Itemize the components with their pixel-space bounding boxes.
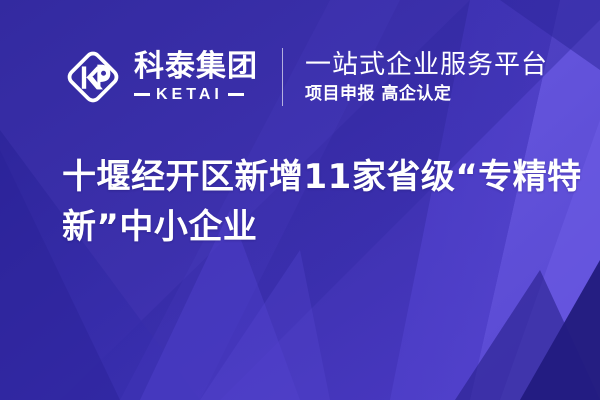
tagline-primary: 一站式企业服务平台 <box>305 51 548 80</box>
logo-rule-left <box>134 93 150 96</box>
logo-chinese-name: 科泰集团 <box>134 52 258 82</box>
logo-rule-right <box>228 93 244 96</box>
tagline-block: 一站式企业服务平台 项目申报 高企认定 <box>305 51 548 104</box>
headline: 十堰经开区新增11家省级“专精特 新”中小企业 <box>62 152 562 252</box>
tagline-secondary: 项目申报 高企认定 <box>305 85 548 104</box>
logo-latin-name: KETAI <box>156 87 223 103</box>
headline-line-2: 新”中小企业 <box>62 202 562 252</box>
ketai-logo[interactable]: 科泰集团 KETAI <box>62 46 258 108</box>
header-divider <box>282 48 283 106</box>
promo-banner: 科泰集团 KETAI 一站式企业服务平台 项目申报 高企认定 十堰经开区新增11… <box>0 0 600 400</box>
banner-header: 科泰集团 KETAI 一站式企业服务平台 项目申报 高企认定 <box>62 38 548 116</box>
ketai-diamond-kp-monogram-icon <box>62 46 124 108</box>
logo-latin-row: KETAI <box>134 87 258 103</box>
headline-line-1: 十堰经开区新增11家省级“专精特 <box>62 152 562 202</box>
logo-wordmark: 科泰集团 KETAI <box>134 52 258 103</box>
